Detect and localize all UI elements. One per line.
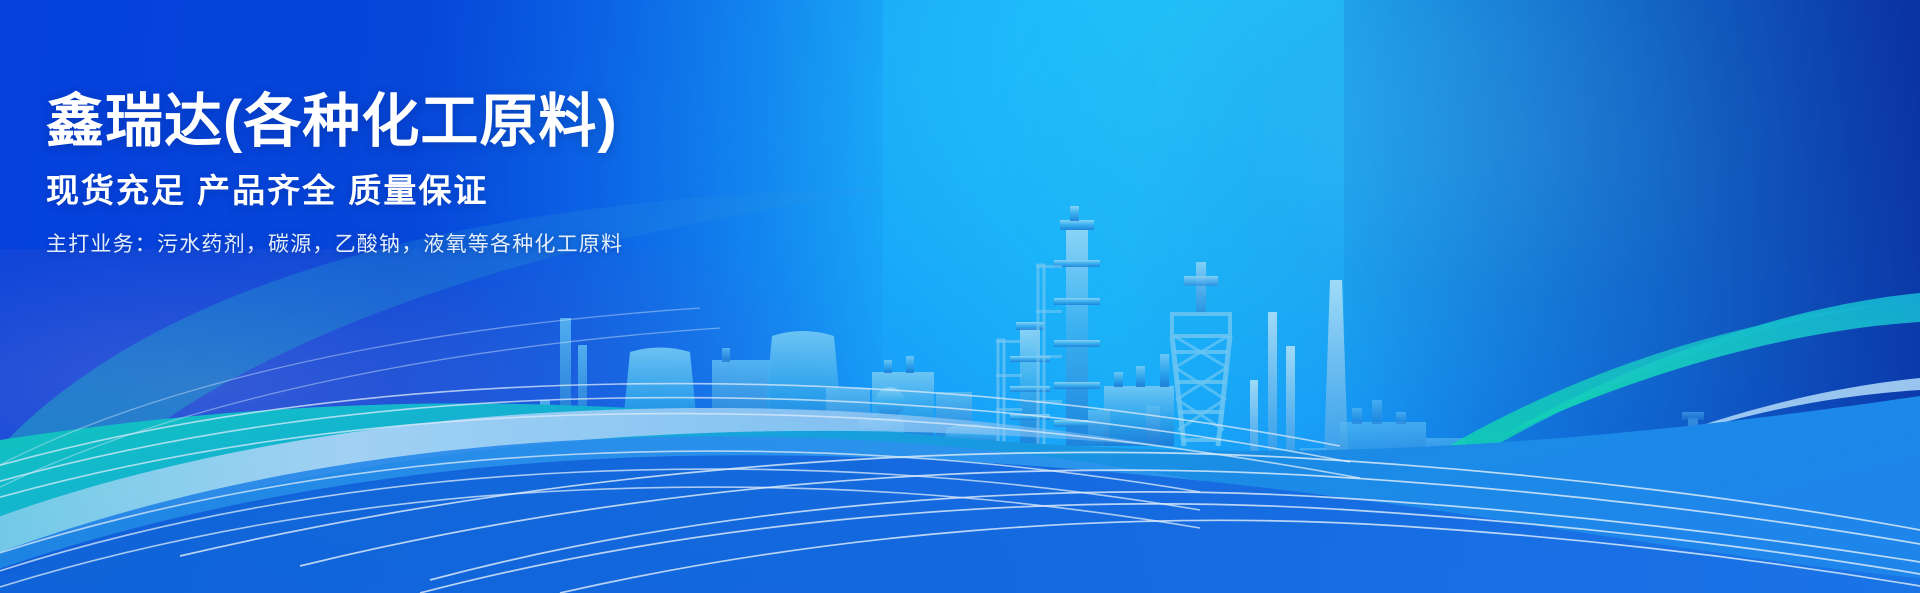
promotional-banner: 鑫瑞达(各种化工原料) 现货充足 产品齐全 质量保证 主打业务：污水药剂，碳源，…	[0, 0, 1920, 593]
banner-tagline: 主打业务：污水药剂，碳源，乙酸钠，液氧等各种化工原料	[46, 231, 806, 258]
banner-title: 鑫瑞达(各种化工原料)	[46, 88, 806, 155]
banner-subtitle: 现货充足 产品齐全 质量保证	[46, 171, 806, 211]
headline-block: 鑫瑞达(各种化工原料) 现货充足 产品齐全 质量保证 主打业务：污水药剂，碳源，…	[46, 88, 806, 258]
